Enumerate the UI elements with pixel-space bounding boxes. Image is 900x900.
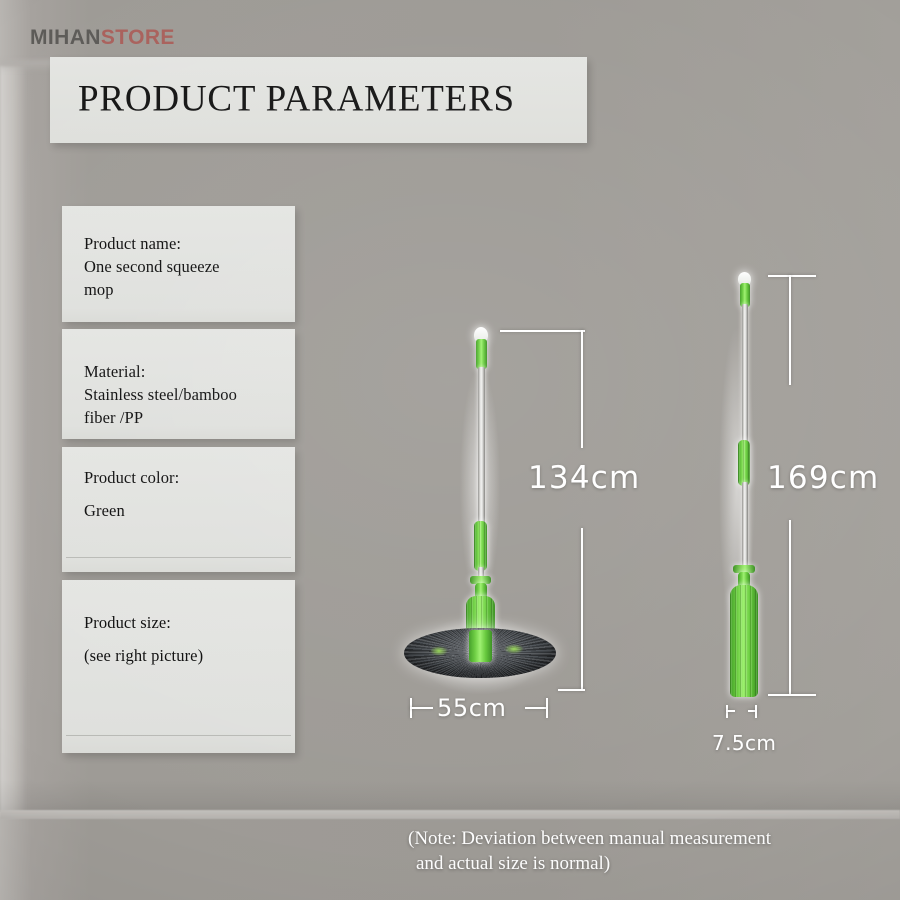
spec-line: Stainless steel/bamboo — [84, 385, 237, 405]
bottom-divider-band — [0, 810, 900, 819]
dim-line-lower-134 — [581, 528, 583, 690]
brand-logo: MIHANSTORE — [30, 26, 175, 50]
spec-card-material: Material: Stainless steel/bamboo fiber /… — [62, 329, 295, 439]
spec-line: Product color: — [84, 468, 179, 488]
spec-card-product-name: Product name: One second squeeze mop — [62, 206, 295, 322]
bottom-shadow — [0, 780, 900, 812]
dim-line-lower-169 — [789, 520, 791, 695]
dimension-label-height-169: 169cm — [767, 460, 879, 496]
mop-mid-grip — [474, 521, 487, 571]
spec-card-product-color: Product color: Green — [62, 447, 295, 572]
dim-tick-top-134 — [500, 330, 585, 332]
spec-line: One second squeeze — [84, 257, 220, 277]
footer-note: (Note: Deviation between manual measurem… — [408, 826, 878, 876]
dim-endcap-right-75 — [755, 705, 757, 718]
pole-main-handle — [730, 585, 758, 697]
product-parameters-poster: MIHANSTORE PRODUCT PARAMETERS Product na… — [0, 0, 900, 900]
brand-logo-primary: MIHAN — [30, 26, 101, 49]
spec-line: mop — [84, 280, 114, 300]
grip-ribs — [474, 521, 487, 571]
left-edge-highlight — [0, 66, 26, 818]
dimension-label-width-75: 7.5cm — [712, 731, 776, 755]
pole-lower-section — [742, 482, 748, 569]
page-title: PRODUCT PARAMETERS — [78, 78, 515, 121]
footer-note-line1: (Note: Deviation between manual measurem… — [408, 828, 771, 849]
spec-line: (see right picture) — [84, 646, 203, 666]
dim-line-left-75 — [726, 710, 735, 712]
divider — [66, 735, 291, 736]
spec-line: Product size: — [84, 613, 171, 633]
brand-logo-secondary: STORE — [101, 26, 175, 49]
mop-upper-pole — [478, 367, 485, 527]
spec-line: Material: — [84, 362, 145, 382]
spec-line: Green — [84, 501, 125, 521]
dimension-label-height-134: 134cm — [528, 460, 640, 496]
dim-tick-bottom-169 — [768, 694, 816, 696]
spec-line: fiber /PP — [84, 408, 143, 428]
dim-tick-top-169 — [768, 275, 816, 277]
footer-note-line2: and actual size is normal) — [408, 851, 878, 876]
dim-line-upper-169 — [789, 275, 791, 385]
dim-line-right-55 — [525, 707, 548, 709]
spec-line: Product name: — [84, 234, 181, 254]
mop-top-grip — [476, 339, 487, 369]
dim-line-left-55 — [410, 707, 433, 709]
dim-tick-bottom-134 — [558, 689, 585, 691]
pole-mid-grip — [738, 440, 750, 486]
handle-ribs — [730, 585, 758, 697]
pole-upper-section — [742, 304, 748, 444]
mop-green-thread — [426, 644, 452, 658]
divider — [66, 557, 291, 558]
mop-handle-tip — [469, 630, 492, 662]
mop-green-thread — [500, 642, 528, 656]
spec-card-product-size: Product size: (see right picture) — [62, 580, 295, 753]
grip-ribs — [738, 440, 750, 486]
dimension-label-width-55: 55cm — [437, 694, 507, 722]
dim-endcap-right-55 — [546, 698, 548, 718]
dim-line-upper-134 — [581, 330, 583, 448]
page-title-banner: PRODUCT PARAMETERS — [50, 57, 587, 143]
